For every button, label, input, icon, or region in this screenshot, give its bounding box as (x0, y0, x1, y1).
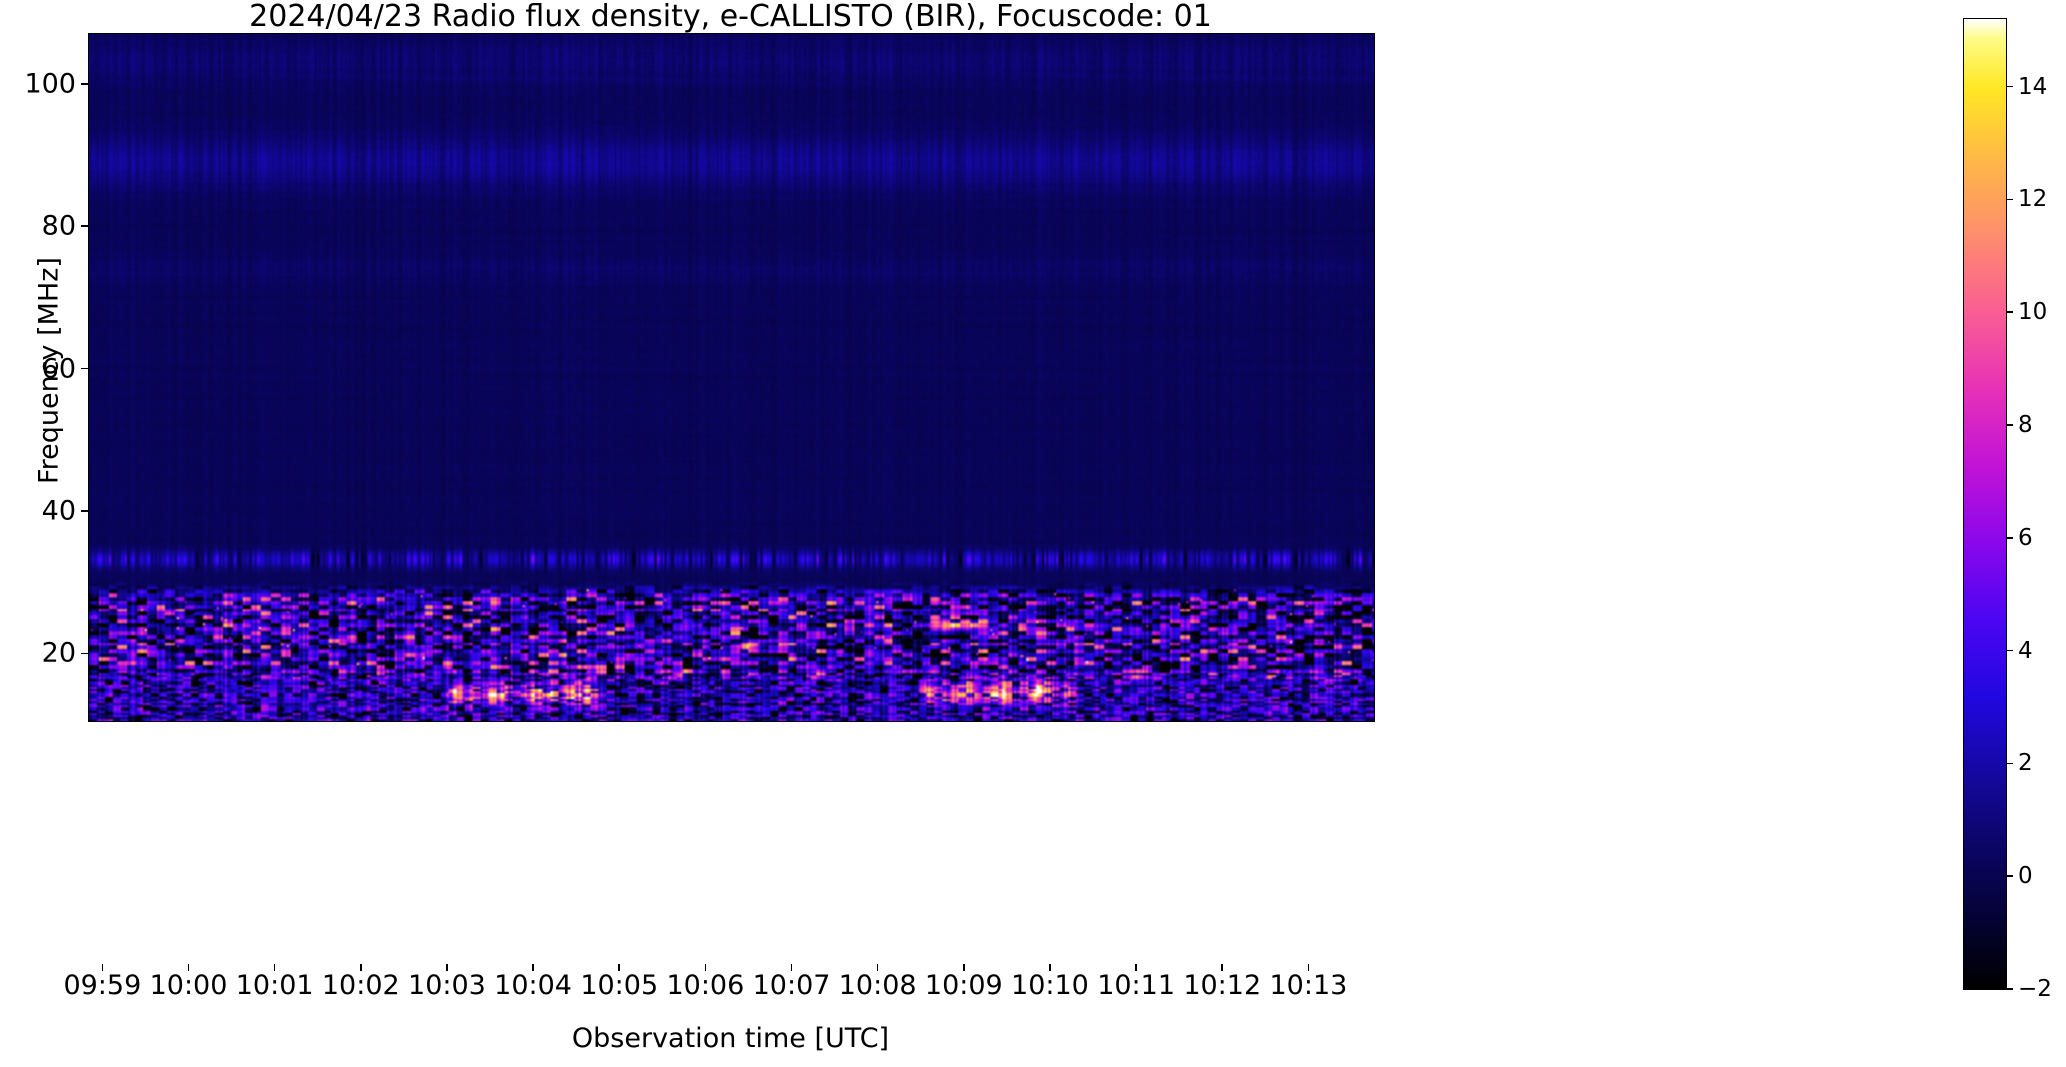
y-tick-mark (81, 225, 88, 227)
colorbar-tick-label: −2 (2018, 976, 2052, 1002)
colorbar (1963, 18, 2007, 990)
x-tick-mark (1049, 964, 1051, 971)
x-tick-mark (360, 964, 362, 971)
y-tick-label: 60 (42, 353, 76, 384)
y-tick-mark (81, 510, 88, 512)
colorbar-tick-mark (2006, 988, 2013, 990)
x-tick-label: 10:03 (408, 970, 486, 1001)
page-title: 2024/04/23 Radio flux density, e-CALLIST… (88, 0, 1373, 34)
spectrogram-canvas (89, 34, 1374, 721)
colorbar-tick-label: 6 (2018, 525, 2033, 551)
x-tick-mark (963, 964, 965, 971)
colorbar-tick-mark (2006, 424, 2013, 426)
x-tick-label: 10:05 (580, 970, 658, 1001)
colorbar-tick-label: 12 (2018, 186, 2047, 212)
x-tick-mark (618, 964, 620, 971)
x-tick-label: 10:07 (753, 970, 831, 1001)
colorbar-tick-mark (2006, 537, 2013, 539)
colorbar-tick-mark (2006, 199, 2013, 201)
x-tick-mark (877, 964, 879, 971)
colorbar-tick-mark (2006, 650, 2013, 652)
y-tick-label: 40 (42, 495, 76, 526)
colorbar-tick-label: 4 (2018, 638, 2033, 664)
x-tick-label: 10:02 (322, 970, 400, 1001)
x-tick-label: 10:11 (1097, 970, 1175, 1001)
spectrogram-image (89, 34, 1374, 721)
x-tick-mark (1221, 964, 1223, 971)
x-tick-label: 10:00 (150, 970, 228, 1001)
y-tick-label: 80 (42, 211, 76, 242)
colorbar-tick-mark (2006, 763, 2013, 765)
colorbar-tick-mark (2006, 875, 2013, 877)
colorbar-tick-label: 2 (2018, 750, 2033, 776)
x-tick-mark (1135, 964, 1137, 971)
x-tick-label: 10:10 (1011, 970, 1089, 1001)
x-tick-label: 10:12 (1183, 970, 1261, 1001)
y-tick-label: 20 (42, 638, 76, 669)
x-tick-label: 10:04 (494, 970, 572, 1001)
x-tick-label: 10:06 (666, 970, 744, 1001)
colorbar-tick-label: 0 (2018, 863, 2033, 889)
spectrogram-axes (88, 33, 1375, 722)
colorbar-tick-label: 14 (2018, 74, 2047, 100)
colorbar-tick-mark (2006, 311, 2013, 313)
x-tick-mark (791, 964, 793, 971)
x-axis-label: Observation time [UTC] (88, 1023, 1373, 1054)
colorbar-gradient (1964, 19, 2006, 989)
y-tick-mark (81, 368, 88, 370)
colorbar-tick-label: 8 (2018, 412, 2033, 438)
x-tick-label: 10:08 (839, 970, 917, 1001)
colorbar-tick-label: 10 (2018, 299, 2047, 325)
x-tick-mark (188, 964, 190, 971)
x-tick-label: 09:59 (63, 970, 141, 1001)
x-tick-mark (446, 964, 448, 971)
x-tick-mark (1308, 964, 1310, 971)
x-tick-mark (705, 964, 707, 971)
y-tick-mark (81, 83, 88, 85)
colorbar-tick-mark (2006, 86, 2013, 88)
x-tick-mark (532, 964, 534, 971)
x-tick-label: 10:13 (1269, 970, 1347, 1001)
y-tick-label: 100 (24, 68, 76, 99)
x-tick-mark (102, 964, 104, 971)
x-tick-label: 10:09 (925, 970, 1003, 1001)
x-tick-mark (274, 964, 276, 971)
x-tick-label: 10:01 (236, 970, 314, 1001)
figure-canvas: 2024/04/23 Radio flux density, e-CALLIST… (0, 0, 2066, 1067)
y-tick-mark (81, 653, 88, 655)
